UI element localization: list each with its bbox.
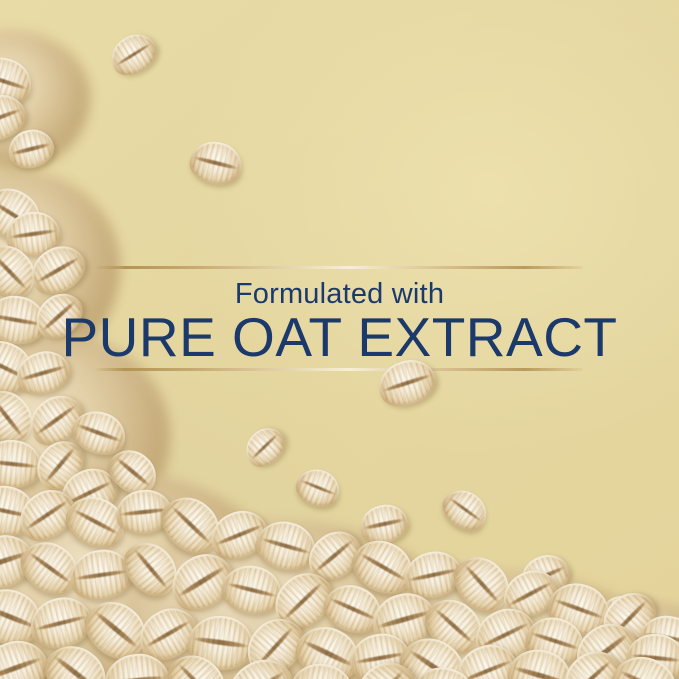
divider-rule-bottom: [96, 368, 583, 371]
divider-rule-top: [96, 266, 583, 269]
banner-eyebrow: Formulated with: [0, 280, 679, 309]
banner-headline: PURE OAT EXTRACT: [0, 310, 679, 365]
banner-block: Formulated with PURE OAT EXTRACT: [0, 258, 679, 380]
oat-extract-banner: Formulated with PURE OAT EXTRACT: [0, 0, 679, 679]
